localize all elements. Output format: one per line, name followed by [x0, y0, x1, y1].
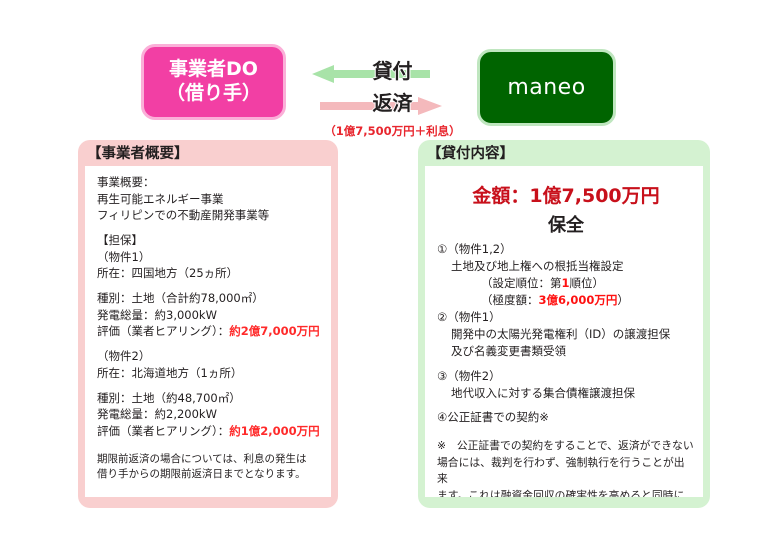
property-2-type: 種別：土地（約48,700㎡）	[97, 390, 323, 406]
loan-panel-title: 【貸付内容】	[425, 144, 703, 166]
repayment-flow-label: 返済	[300, 87, 485, 116]
property-1-valuation-label: 評価（業者ヒアリング）：	[97, 324, 229, 338]
security-heading: 保全	[437, 211, 695, 237]
flow-amount-note: （1億7,500万円＋利息）	[300, 123, 485, 139]
spacer	[437, 360, 695, 368]
loan-flow-row: 貸付	[300, 57, 485, 91]
loan-footnote: ※ 公正証書での契約をすることで、返済ができない 場合には、裁判を行わず、強制執…	[437, 438, 695, 497]
loan-footnote-line-2: 場合には、裁判を行わず、強制執行を行うことが出来	[437, 455, 695, 488]
security-item-1-rank-suffix: 順位）	[570, 276, 605, 290]
security-item-3-body: 地代収入に対する集合債権譲渡担保	[437, 385, 695, 402]
security-item-1-maxamount-prefix: （極度額：	[481, 293, 539, 307]
borrower-label-line1: 事業者DO	[166, 58, 261, 82]
repayment-flow-row: 返済	[300, 89, 485, 123]
security-item-1-rank-prefix: （設定順位：第	[481, 276, 562, 290]
business-overview-line-2: フィリピンでの不動産開発事業等	[97, 207, 323, 223]
lender-entity-box: maneo	[477, 49, 616, 126]
loan-footnote-line-3: ます。これは融資金回収の確実性を高めると同時に、	[437, 488, 695, 498]
security-item-4-marker: ④公正証書での契約※	[437, 409, 695, 426]
security-item-1-rank-value: 1	[562, 276, 570, 290]
spacer	[97, 223, 323, 232]
property-1-valuation-value: 約2億7,000万円	[229, 324, 319, 338]
spacer	[437, 401, 695, 409]
property-2-valuation: 評価（業者ヒアリング）：約1億2,000万円	[97, 423, 323, 439]
spacer	[97, 381, 323, 390]
property-1-generation: 発電総量：約3,000kW	[97, 307, 323, 323]
loan-footnote-line-1: ※ 公正証書での契約をすることで、返済ができない	[437, 438, 695, 454]
security-item-2-body-line-2: 及び名義変更書類受領	[437, 343, 695, 360]
business-overview-label: 事業概要：	[97, 174, 323, 190]
prepayment-note: 期限前返済の場合については、利息の発生は 借り手からの期限前返済日までとなります…	[97, 452, 323, 482]
flow-arrows-group: 貸付 返済 （1億7,500万円＋利息）	[300, 45, 485, 135]
security-item-1-rank: （設定順位：第1順位）	[437, 275, 695, 292]
security-item-1-marker: ①（物件1,2）	[437, 241, 695, 258]
security-item-2-marker: ②（物件1）	[437, 309, 695, 326]
borrower-overview-panel: 【事業者概要】 事業概要： 再生可能エネルギー事業 フィリピンでの不動産開発事業…	[78, 140, 338, 508]
borrower-label-line2: （借り手）	[166, 82, 261, 106]
security-item-2-body-line-1: 開発中の太陽光発電権利（ID）の譲渡担保	[437, 326, 695, 343]
loan-amount-text: 金額：1億7,500万円	[437, 181, 695, 208]
property-2-location: 所在：北海道地方（1ヵ所）	[97, 365, 323, 381]
security-item-1-maxamount-value: 3億6,000万円	[539, 293, 618, 307]
borrower-panel-title: 【事業者概要】	[85, 144, 331, 166]
property-1-name: （物件1）	[97, 249, 323, 265]
property-2-valuation-label: 評価（業者ヒアリング）：	[97, 424, 229, 438]
spacer	[97, 281, 323, 290]
borrower-entity-box: 事業者DO （借り手）	[141, 44, 286, 120]
prepayment-note-line-1: 期限前返済の場合については、利息の発生は	[97, 452, 323, 467]
prepayment-note-line-2: 借り手からの期限前返済日までとなります。	[97, 467, 323, 482]
collateral-heading: 【担保】	[97, 232, 323, 248]
property-2-name: （物件2）	[97, 348, 323, 364]
property-2-valuation-value: 約1億2,000万円	[229, 424, 319, 438]
security-item-1-maxamount: （極度額：3億6,000万円）	[437, 292, 695, 309]
security-item-1-maxamount-suffix: ）	[617, 293, 629, 307]
loan-details-panel: 【貸付内容】 金額：1億7,500万円 保全 ①（物件1,2） 土地及び地上権へ…	[418, 140, 710, 508]
property-1-location: 所在：四国地方（25ヵ所）	[97, 265, 323, 281]
loan-panel-body: 金額：1億7,500万円 保全 ①（物件1,2） 土地及び地上権への根抵当権設定…	[425, 166, 703, 497]
business-overview-line-1: 再生可能エネルギー事業	[97, 191, 323, 207]
borrower-panel-body: 事業概要： 再生可能エネルギー事業 フィリピンでの不動産開発事業等 【担保】 （…	[85, 166, 331, 497]
security-item-1-body: 土地及び地上権への根抵当権設定	[437, 258, 695, 275]
loan-flow-label: 貸付	[300, 55, 485, 84]
property-2-generation: 発電総量：約2,200kW	[97, 406, 323, 422]
spacer	[97, 339, 323, 348]
security-item-3-marker: ③（物件2）	[437, 368, 695, 385]
lender-label: maneo	[507, 74, 585, 102]
property-1-type: 種別：土地（合計約78,000㎡）	[97, 290, 323, 306]
property-1-valuation: 評価（業者ヒアリング）：約2億7,000万円	[97, 323, 323, 339]
